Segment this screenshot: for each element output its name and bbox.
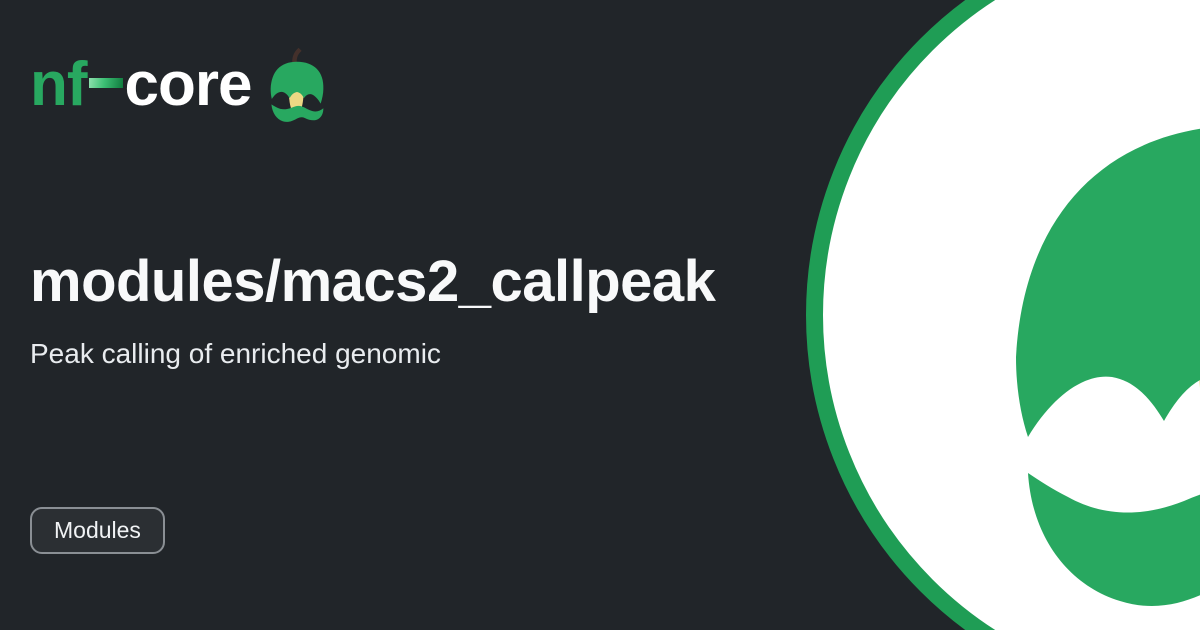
apple-core-icon bbox=[266, 45, 328, 125]
brand-logo[interactable]: nfcore bbox=[30, 45, 328, 125]
page-title: modules/macs2_callpeak bbox=[30, 250, 820, 315]
brand-name-nf: nf bbox=[30, 50, 87, 119]
hero-circle-decoration bbox=[806, 0, 1200, 630]
brand-name-core: core bbox=[125, 50, 252, 119]
page-subtitle: Peak calling of enriched genomic bbox=[30, 337, 820, 371]
status-badge[interactable]: Modules bbox=[30, 507, 165, 554]
apple-core-icon bbox=[928, 1, 1200, 630]
content-block: modules/macs2_callpeak Peak calling of e… bbox=[30, 250, 820, 371]
og-card: nfcore modules/macs2_callpeak Peak calli… bbox=[0, 0, 1200, 630]
brand-wordmark: nfcore bbox=[30, 54, 252, 116]
badge-row: Modules bbox=[30, 507, 165, 554]
dash-icon bbox=[89, 78, 123, 88]
